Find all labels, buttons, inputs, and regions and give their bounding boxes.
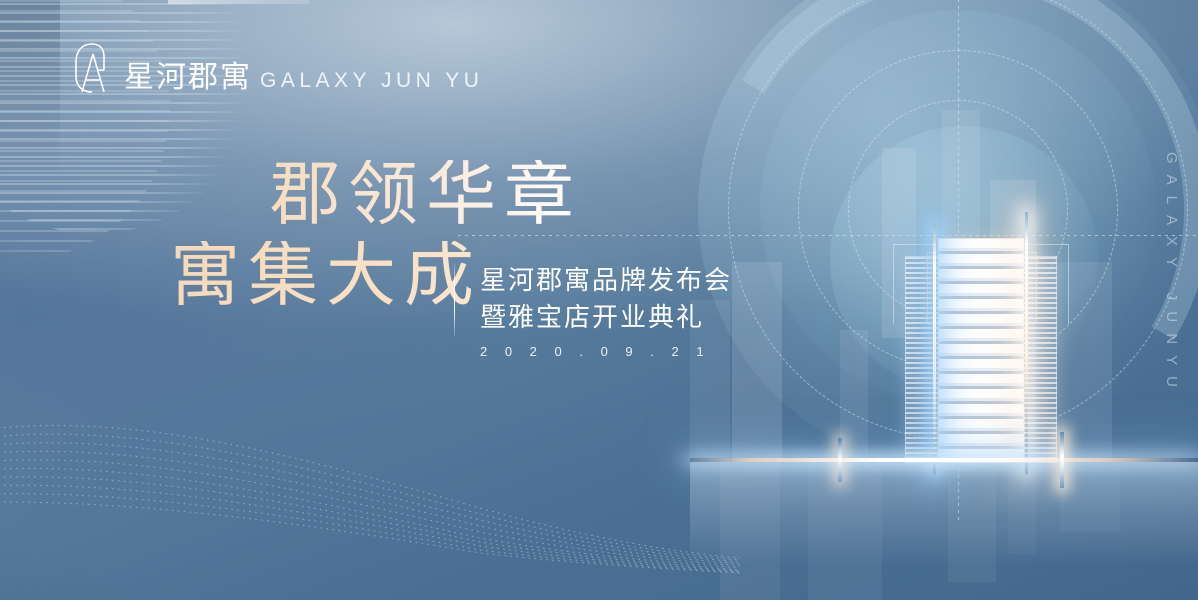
lens-flare-left [838,438,842,482]
event-date: 2 0 2 0 . 0 9 . 2 1 [480,344,711,359]
vertical-brand-mark: GALAXY JUNYU [1163,152,1180,398]
lens-flare-right [1060,432,1064,488]
top-accent-bar [168,0,310,4]
brand-logo[interactable]: 星河郡寓 GALAXY JUN YU [70,40,483,96]
block-7 [840,330,868,462]
subtitle-block: 星河郡寓品牌发布会 暨雅宝店开业典礼 [480,262,732,336]
ground-reflection [690,462,1198,600]
brand-name-en: GALAXY JUN YU [260,70,483,96]
brand-name-cn: 星河郡寓 [124,63,252,96]
subtitle-line-2: 暨雅宝店开业典礼 [480,299,732,336]
galaxy-ga-monogram-icon [70,40,116,96]
tower-front-slab [938,238,1024,463]
subtitle-line-1: 星河郡寓品牌发布会 [480,262,732,299]
skyscraper-tower-icon [905,238,1057,463]
horizontal-light-beam-icon [690,458,1198,462]
event-poster: 星河郡寓 GALAXY JUN YU 郡领华章 寓集大成 星河郡寓品牌发布会 暨… [0,0,1198,600]
subtitle-divider [454,264,455,336]
headline-line-1: 郡领华章 [270,160,790,229]
tower-glow-left [933,224,936,474]
tower-glow-right [1025,212,1028,474]
dotted-wave-lines-icon [0,390,740,590]
